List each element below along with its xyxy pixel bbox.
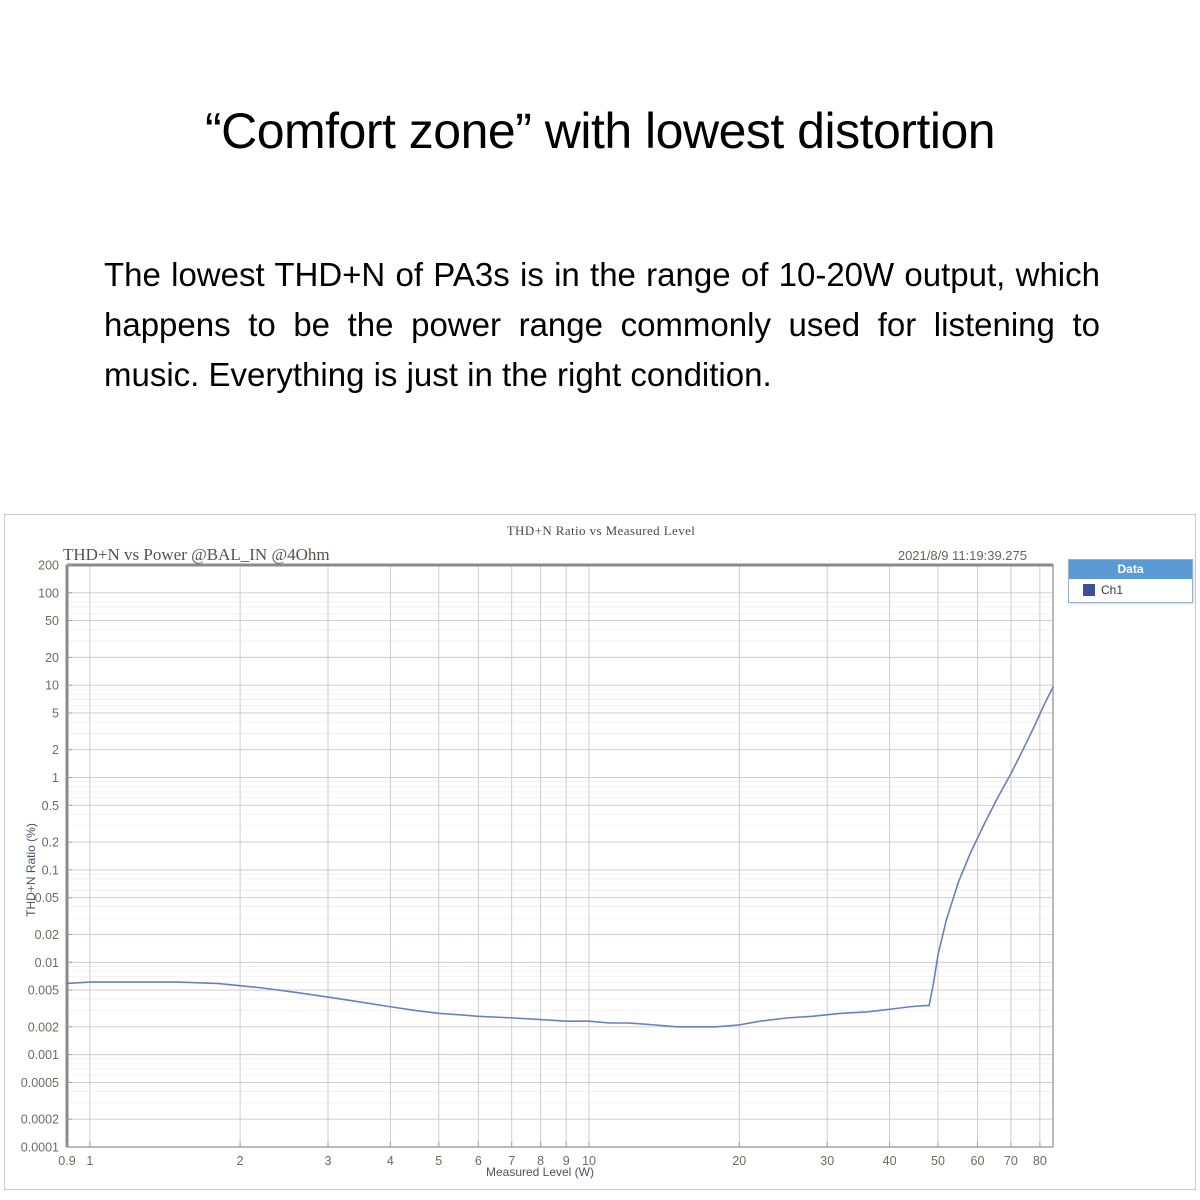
body-paragraph: The lowest THD+N of PA3s is in the range…: [104, 250, 1100, 400]
page-title: “Comfort zone” with lowest distortion: [0, 104, 1200, 159]
x-axis-tick-label: 70: [1004, 1154, 1018, 1168]
x-axis-tick-label: 4: [387, 1154, 394, 1168]
x-axis-tick-label: 50: [931, 1154, 945, 1168]
y-axis-tick-label: 10: [45, 679, 59, 693]
x-axis-tick-label: 60: [971, 1154, 985, 1168]
y-axis-tick-label: 0.0005: [21, 1076, 59, 1090]
x-axis-tick-label: 8: [537, 1154, 544, 1168]
x-axis-tick-label: 0.9: [58, 1154, 75, 1168]
y-axis-tick-label: 20: [45, 651, 59, 665]
x-axis-tick-label: 6: [475, 1154, 482, 1168]
chart-panel: THD+N Ratio vs Measured Level THD+N vs P…: [4, 514, 1196, 1190]
y-axis-tick-label: 0.002: [28, 1020, 59, 1034]
y-axis-tick-label: 200: [38, 559, 59, 573]
x-axis-tick-label: 7: [508, 1154, 515, 1168]
x-axis-tick-label: 5: [435, 1154, 442, 1168]
x-axis-tick-label: 80: [1033, 1154, 1047, 1168]
x-axis-tick-label: 9: [563, 1154, 570, 1168]
y-axis-tick-label: 0.01: [35, 956, 59, 970]
y-axis-tick-label: 100: [38, 586, 59, 600]
y-axis-tick-label: 0.001: [28, 1048, 59, 1062]
y-axis-tick-label: 2: [52, 743, 59, 757]
y-axis-tick-label: 0.0001: [21, 1141, 59, 1155]
y-axis-tick-label: 0.2: [42, 836, 59, 850]
y-axis-tick-label: 0.0002: [21, 1113, 59, 1127]
y-axis-tick-label: 0.5: [42, 799, 59, 813]
y-axis-tick-label: 1: [52, 771, 59, 785]
x-axis-tick-label: 2: [237, 1154, 244, 1168]
y-axis-tick-label: 5: [52, 706, 59, 720]
x-axis-tick-label: 20: [732, 1154, 746, 1168]
x-axis-tick-label: 1: [86, 1154, 93, 1168]
y-axis-tick-label: 0.05: [35, 891, 59, 905]
x-axis-tick-label: 10: [582, 1154, 596, 1168]
y-axis-tick-label: 0.005: [28, 984, 59, 998]
x-axis-tick-label: 40: [883, 1154, 897, 1168]
y-axis-tick-label: 0.1: [42, 863, 59, 877]
x-axis-tick-label: 3: [325, 1154, 332, 1168]
x-axis-tick-label: 30: [820, 1154, 834, 1168]
y-axis-tick-label: 0.02: [35, 928, 59, 942]
y-axis-tick-label: 50: [45, 614, 59, 628]
thdn-vs-power-plot: 2001005020105210.50.20.10.050.020.010.00…: [5, 515, 1197, 1191]
